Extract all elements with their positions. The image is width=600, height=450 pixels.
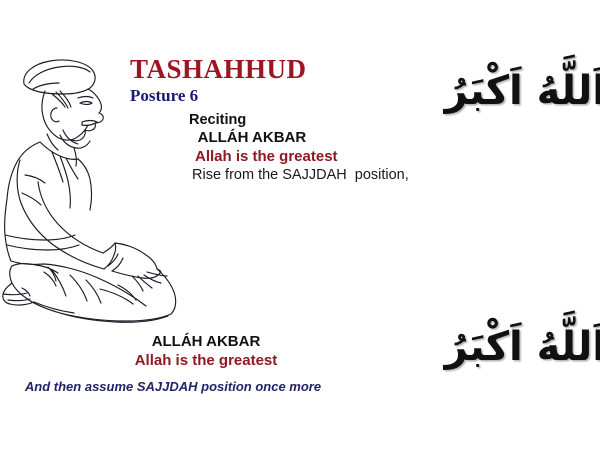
caption-block: ALLÁH AKBAR Allah is the greatest: [0, 332, 412, 371]
caption-takbir: ALLÁH AKBAR: [0, 332, 412, 351]
page-title: TASHAHHUD: [130, 54, 430, 84]
instruction-block: Reciting ALLÁH AKBAR Allah is the greate…: [189, 112, 449, 185]
rise-instruction: Rise from the SAJJDAH position,: [189, 166, 449, 185]
posture-subtitle: Posture 6: [130, 85, 430, 106]
slide-canvas: TASHAHHUD Posture 6 Reciting ALLÁH AKBAR…: [0, 0, 600, 450]
closing-note: And then assume SAJJDAH position once mo…: [0, 378, 346, 395]
arabic-takbir-bottom: اَللَّهُ اَكْبَرُ: [445, 318, 600, 376]
reciting-label: Reciting: [189, 112, 449, 129]
title-block: TASHAHHUD Posture 6: [130, 54, 430, 106]
takbir-transliteration: ALLÁH AKBAR: [189, 129, 449, 147]
caption-translation: Allah is the greatest: [0, 351, 412, 371]
takbir-translation: Allah is the greatest: [189, 147, 449, 166]
arabic-takbir-top: اَللَّهُ اَكْبَرُ: [445, 62, 600, 120]
